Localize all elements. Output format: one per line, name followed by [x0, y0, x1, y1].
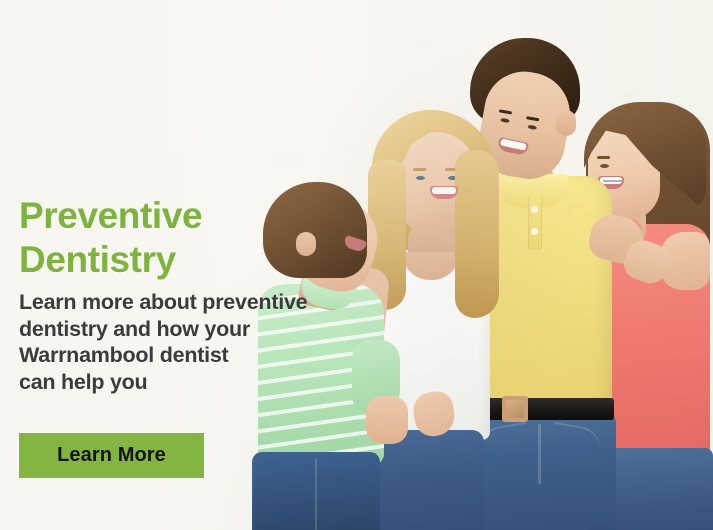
page-title: Preventive Dentistry [19, 194, 202, 282]
father-belt-buckle [502, 396, 528, 422]
father-polo-button-bottom [531, 228, 538, 235]
father-jeans-fly [538, 424, 541, 484]
father-eyebrow-right [526, 116, 539, 121]
father-polo-placket [528, 196, 542, 250]
preventive-dentistry-banner: Preventive Dentistry Learn more about pr… [0, 0, 713, 530]
mother-eyebrow-left [413, 168, 426, 171]
girl-braces [603, 180, 623, 182]
father-eye-right [527, 125, 537, 131]
girl-eye [600, 164, 609, 168]
father-pocket-right [550, 422, 603, 452]
banner-description: Learn more about preventive dentistry an… [19, 289, 379, 395]
girl-eyebrow [597, 156, 610, 159]
mother-smile [430, 186, 458, 199]
mother-teeth [432, 187, 456, 194]
mother-eye-left [416, 176, 425, 180]
father-polo-button-top [531, 206, 538, 213]
father-eye-left [500, 118, 510, 124]
banner-content: Preventive Dentistry Learn more about pr… [19, 0, 389, 530]
father-eyebrow-left [499, 109, 512, 114]
mother-hair-right [455, 150, 499, 318]
father-ear [556, 110, 576, 136]
learn-more-button[interactable]: Learn More [19, 433, 204, 478]
